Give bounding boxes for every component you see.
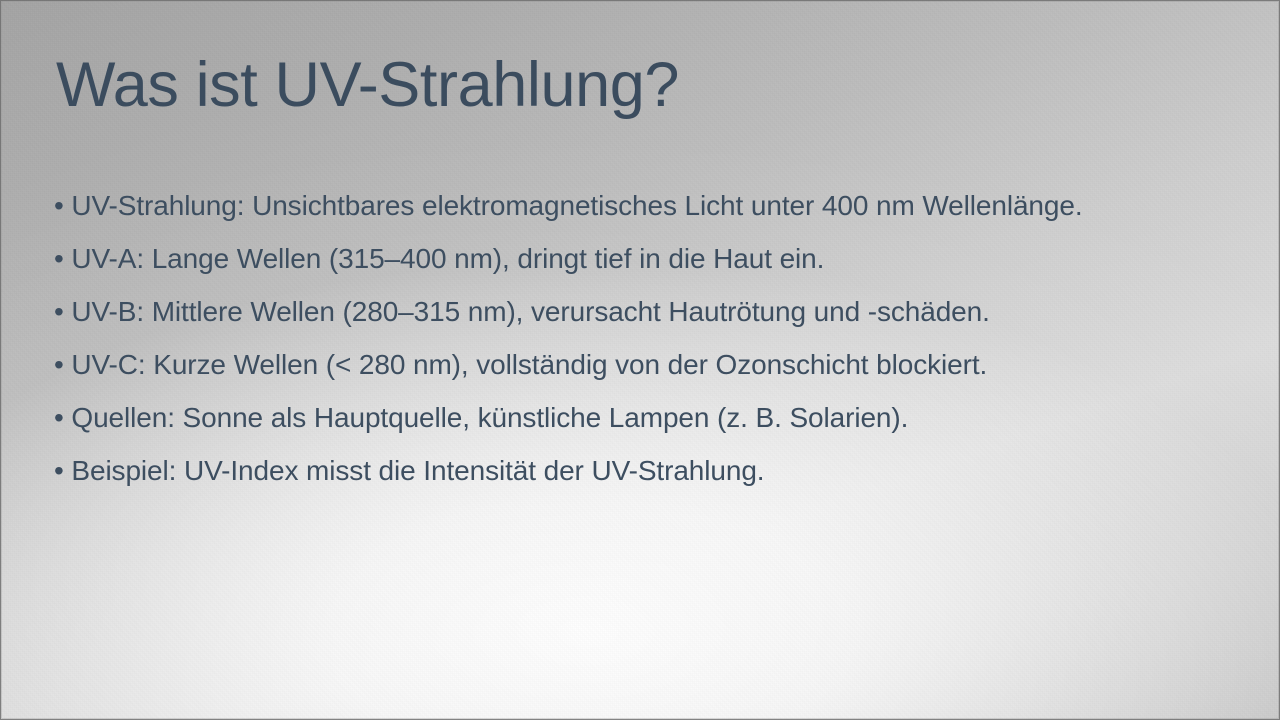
presentation-slide: Was ist UV-Strahlung? • UV-Strahlung: Un…	[0, 0, 1280, 720]
bullet-dot-icon: •	[54, 243, 71, 274]
list-item: • UV-C: Kurze Wellen (< 280 nm), vollstä…	[54, 345, 1184, 385]
bullet-dot-icon: •	[54, 402, 71, 433]
bullet-list: • UV-Strahlung: Unsichtbares elektromagn…	[54, 186, 1184, 504]
bullet-dot-icon: •	[54, 349, 71, 380]
bullet-dot-icon: •	[54, 296, 71, 327]
bullet-dot-icon: •	[54, 190, 71, 221]
bullet-text-definition: UV-Strahlung: Unsichtbares elektromagnet…	[71, 190, 1082, 221]
bullet-text-quellen: Quellen: Sonne als Hauptquelle, künstlic…	[71, 402, 908, 433]
list-item: • UV-A: Lange Wellen (315–400 nm), dring…	[54, 239, 1184, 279]
slide-content: Was ist UV-Strahlung? • UV-Strahlung: Un…	[0, 0, 1280, 720]
bullet-text-beispiel: Beispiel: UV-Index misst die Intensität …	[71, 455, 764, 486]
slide-title: Was ist UV-Strahlung?	[56, 52, 679, 119]
list-item: • Beispiel: UV-Index misst die Intensitä…	[54, 451, 1184, 491]
list-item: • Quellen: Sonne als Hauptquelle, künstl…	[54, 398, 1184, 438]
bullet-text-uv-b: UV-B: Mittlere Wellen (280–315 nm), veru…	[71, 296, 989, 327]
list-item: • UV-Strahlung: Unsichtbares elektromagn…	[54, 186, 1184, 226]
bullet-dot-icon: •	[54, 455, 71, 486]
list-item: • UV-B: Mittlere Wellen (280–315 nm), ve…	[54, 292, 1184, 332]
bullet-text-uv-a: UV-A: Lange Wellen (315–400 nm), dringt …	[71, 243, 824, 274]
bullet-text-uv-c: UV-C: Kurze Wellen (< 280 nm), vollständ…	[71, 349, 987, 380]
